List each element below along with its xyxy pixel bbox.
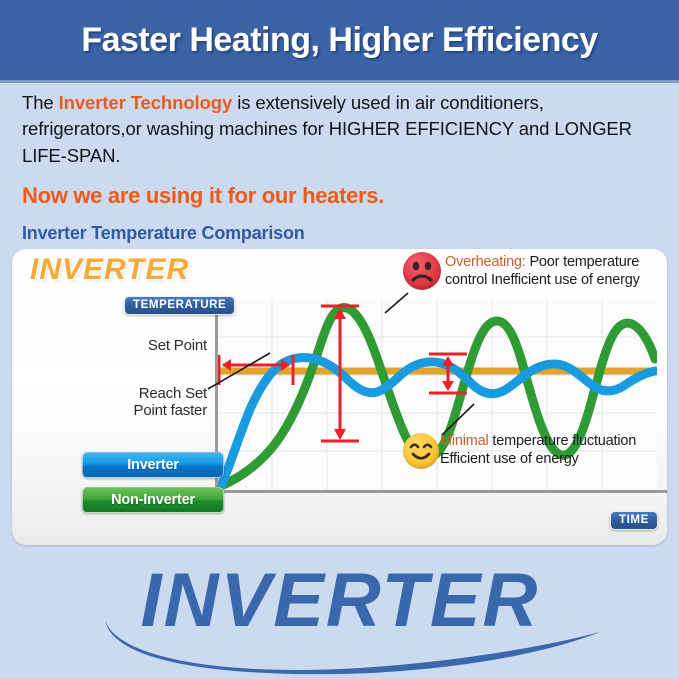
x-axis-chip: TIME bbox=[610, 511, 658, 530]
callout-minimal-keyword: Minimal bbox=[440, 433, 489, 449]
happy-face-icon bbox=[403, 433, 439, 469]
legend-label-inverter: Inverter bbox=[127, 457, 179, 473]
legend-label-non-inverter: Non-Inverter bbox=[111, 492, 195, 508]
tagline: Now we are using it for our heaters. bbox=[22, 183, 662, 209]
x-axis-line bbox=[215, 490, 667, 493]
infographic-root: Faster Heating, Higher Efficiency The In… bbox=[0, 0, 679, 679]
callout-overheating-keyword: Overheating: bbox=[445, 254, 526, 270]
happy-face-glyph bbox=[403, 433, 439, 469]
legend-item-non-inverter[interactable]: Non-Inverter bbox=[82, 487, 224, 513]
inverter-technology-highlight: Inverter Technology bbox=[59, 92, 233, 113]
intro-copy: The Inverter Technology is extensively u… bbox=[22, 90, 662, 244]
header-banner: Faster Heating, Higher Efficiency bbox=[0, 0, 679, 80]
legend-item-inverter[interactable]: Inverter bbox=[82, 452, 224, 478]
header-divider bbox=[0, 80, 679, 83]
inverter-logo-text: INVERTER bbox=[141, 558, 540, 643]
comparison-chart-panel: INVERTER bbox=[12, 249, 667, 545]
sad-face-glyph bbox=[403, 252, 441, 290]
intro-part1: The bbox=[22, 92, 59, 113]
sad-face-icon bbox=[403, 252, 441, 290]
callout-minimal: Minimal temperature fluctuation Efficien… bbox=[440, 432, 667, 468]
page-title: Faster Heating, Higher Efficiency bbox=[81, 21, 597, 60]
set-point-label: Set Point bbox=[72, 337, 207, 354]
chart-subtitle: Inverter Temperature Comparison bbox=[22, 223, 662, 244]
reach-set-point-label: Reach Set Point faster bbox=[72, 385, 207, 420]
panel-watermark: INVERTER bbox=[30, 253, 189, 287]
intro-paragraph: The Inverter Technology is extensively u… bbox=[22, 90, 662, 169]
callout-overheating: Overheating: Poor temperature control In… bbox=[445, 253, 667, 289]
y-axis-chip: TEMPERATURE bbox=[124, 296, 235, 315]
inverter-logo: INVERTER bbox=[0, 548, 679, 679]
